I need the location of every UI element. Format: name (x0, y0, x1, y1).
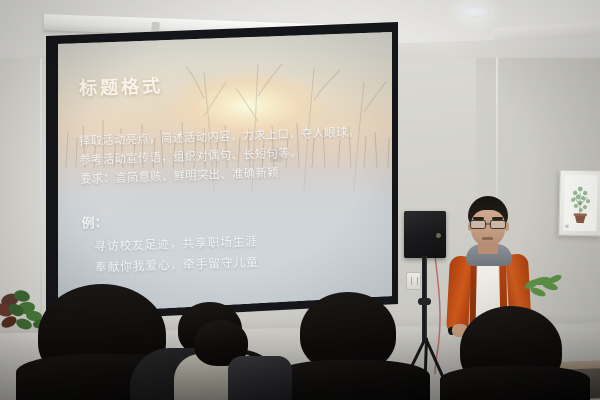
framed-picture (558, 170, 600, 237)
potted-plant-illustration-icon (563, 175, 597, 232)
slide-example-label: 例： (81, 212, 108, 232)
presenter-mouth (482, 237, 493, 240)
slide-example-block: 寻访校友足迹，共享职场生涯 奉献你我爱心，牵手留守儿童 (94, 227, 385, 279)
slide-title: 标题格式 (79, 72, 164, 101)
photo-scene: 标题格式 择取活动亮点，简述活动内容，力求上口，夺人眼球。 参考活动宣传语，组织… (0, 0, 600, 400)
wall-outlet (406, 272, 421, 290)
glasses-icon (470, 220, 506, 229)
projection-screen: 标题格式 择取活动亮点，简述活动内容，力求上口，夺人眼球。 参考活动宣传语，组织… (58, 32, 392, 314)
picture-mat (563, 175, 597, 232)
presenter-arm-left (446, 255, 472, 334)
ceiling-light-icon (460, 6, 490, 17)
backpack (228, 356, 292, 400)
slide-body: 择取活动亮点，简述活动内容，力求上口，夺人眼球。 参考活动宣传语，组织对偶句、长… (79, 123, 381, 190)
slide-text-layer: 标题格式 择取活动亮点，简述活动内容，力求上口，夺人眼球。 参考活动宣传语，组织… (58, 32, 392, 314)
tripod-adjust-knob[interactable] (418, 298, 431, 305)
housing-bracket (151, 22, 159, 31)
foliage-right (524, 272, 566, 306)
